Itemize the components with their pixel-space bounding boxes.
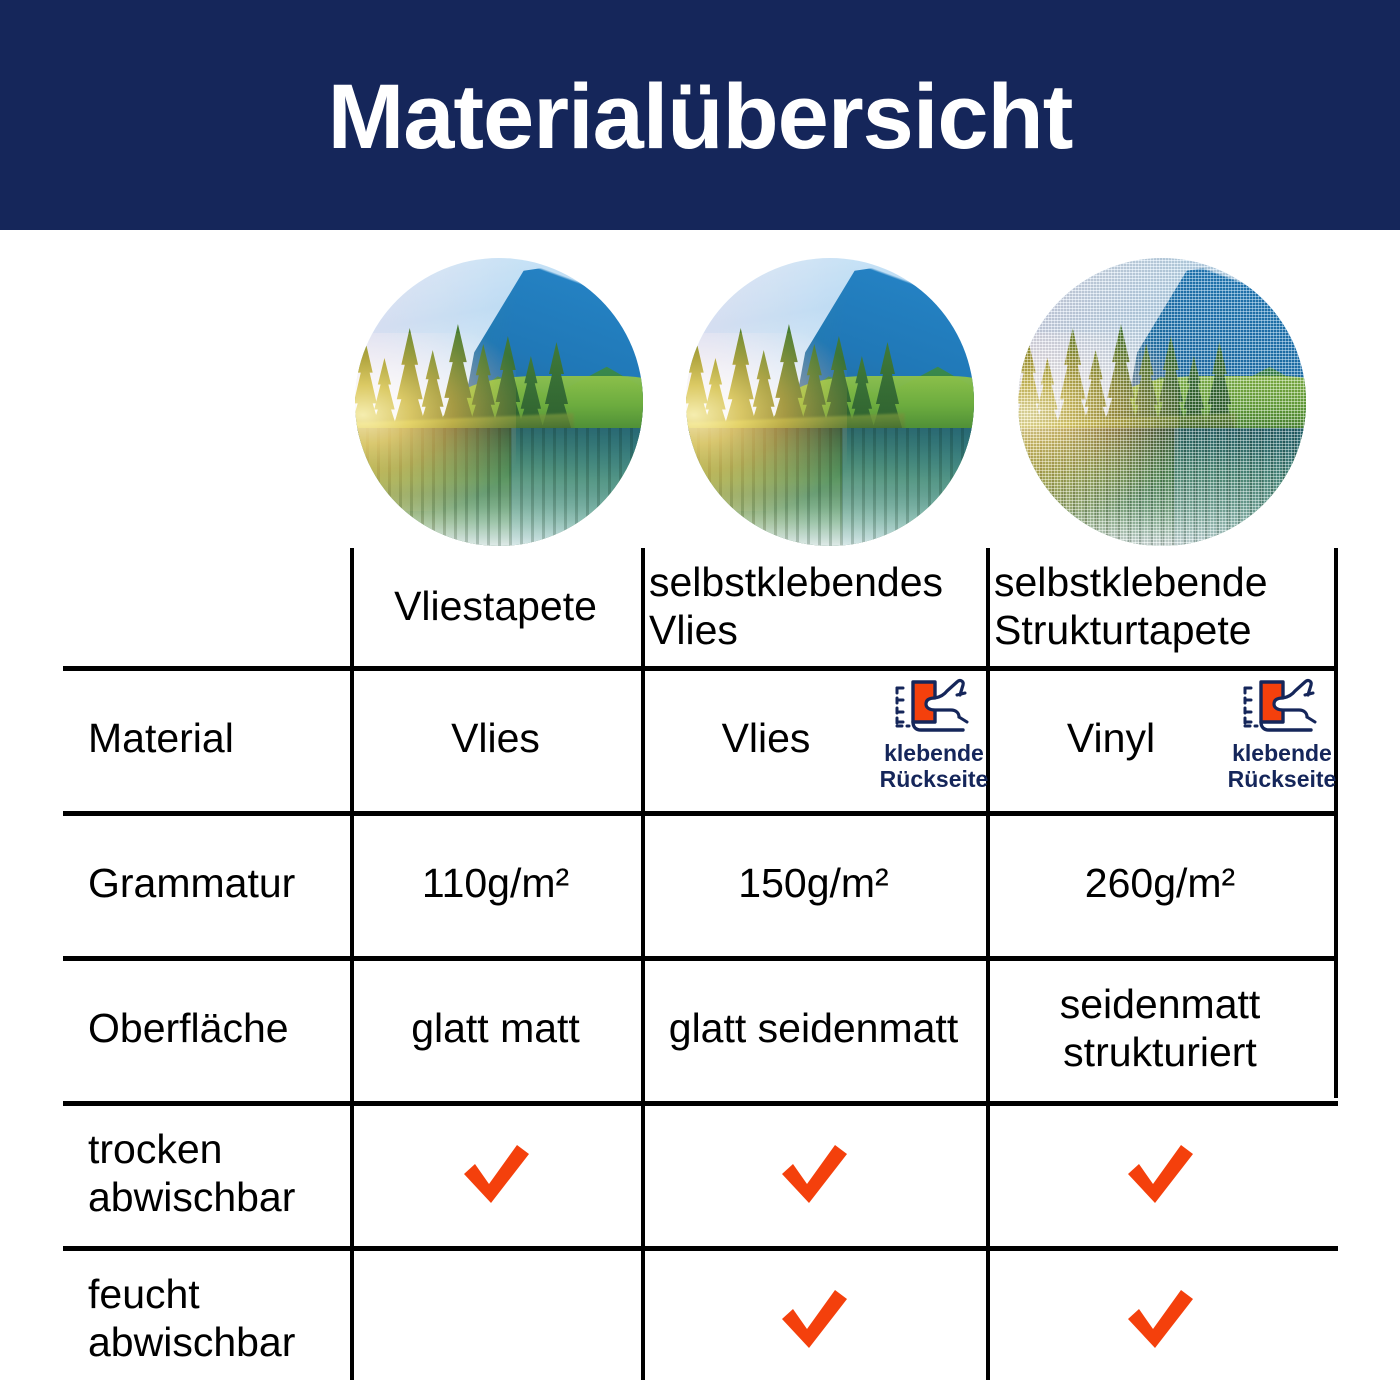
adhesive-backing-badge-label: klebende Rückseite xyxy=(880,741,989,793)
product-sample-circles xyxy=(0,258,1400,548)
material-overview-page: Materialübersicht xyxy=(0,0,1400,1400)
cell-oberflaeche-vliestapete: glatt matt xyxy=(350,956,641,1101)
cell-oberflaeche-selbstklebendes-vlies: glatt seidenmatt xyxy=(641,956,986,1101)
column-header-vliestapete: Vliestapete xyxy=(350,548,641,666)
adhesive-backing-badge-col3: klebende Rückseite xyxy=(1219,676,1345,793)
cell-material-vliestapete: Vlies xyxy=(350,666,641,811)
material-comparison-table: Vliestapete selbstklebendes Vlies selbst… xyxy=(63,548,1338,1380)
cell-oberflaeche-selbstklebende-strukturtapete: seidenmatt strukturiert xyxy=(986,956,1334,1101)
cell-material-selbstklebende-strukturtapete: Vinyl xyxy=(986,666,1236,811)
page-title: Materialübersicht xyxy=(328,71,1073,163)
cell-material-selbstklebendes-vlies: Vlies xyxy=(641,666,891,811)
row-label-feucht-abwischbar: feucht abwischbar xyxy=(88,1246,350,1391)
row-label-oberflaeche: Oberfläche xyxy=(88,956,350,1101)
cell-trocken-selbstklebende-strukturtapete xyxy=(986,1101,1334,1246)
checkmark-icon xyxy=(777,1287,851,1351)
checkmark-icon xyxy=(459,1142,533,1206)
checkmark-icon xyxy=(1123,1142,1197,1206)
peel-adhesive-backing-icon xyxy=(1239,676,1325,738)
adhesive-backing-badge-col2: klebende Rückseite xyxy=(871,676,997,793)
adhesive-backing-badge-label: klebende Rückseite xyxy=(1228,741,1337,793)
cell-trocken-vliestapete xyxy=(350,1101,641,1246)
cell-grammatur-vliestapete: 110g/m² xyxy=(350,811,641,956)
row-label-grammatur: Grammatur xyxy=(88,811,350,956)
checkmark-icon xyxy=(777,1142,851,1206)
product-sample-image-selbstklebendes-vlies xyxy=(686,258,974,546)
checkmark-icon xyxy=(1123,1287,1197,1351)
cell-grammatur-selbstklebende-strukturtapete: 260g/m² xyxy=(986,811,1334,956)
column-header-selbstklebende-strukturtapete: selbstklebende Strukturtapete xyxy=(994,548,1338,666)
cell-feucht-selbstklebende-strukturtapete xyxy=(986,1246,1334,1391)
cell-feucht-vliestapete xyxy=(350,1246,641,1391)
row-label-trocken-abwischbar: trocken abwischbar xyxy=(88,1101,350,1246)
row-label-material: Material xyxy=(88,666,350,811)
cell-grammatur-selbstklebendes-vlies: 150g/m² xyxy=(641,811,986,956)
cell-trocken-selbstklebendes-vlies xyxy=(641,1101,986,1246)
peel-adhesive-backing-icon xyxy=(891,676,977,738)
page-header-banner: Materialübersicht xyxy=(0,0,1400,230)
product-sample-image-selbstklebende-strukturtapete xyxy=(1018,258,1306,546)
cell-feucht-selbstklebendes-vlies xyxy=(641,1246,986,1391)
product-sample-image-vliestapete xyxy=(355,258,643,546)
column-header-selbstklebendes-vlies: selbstklebendes Vlies xyxy=(649,548,989,666)
